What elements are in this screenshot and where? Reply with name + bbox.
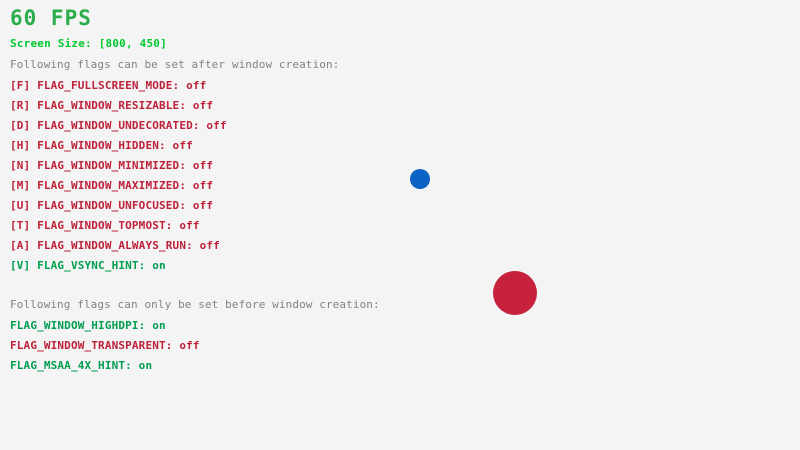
blue-ball (410, 169, 430, 189)
fps-counter: 60 FPS (10, 8, 92, 29)
screen-size-label: Screen Size: [800, 450] (10, 38, 167, 49)
flag-row-window-always-run[interactable]: [A] FLAG_WINDOW_ALWAYS_RUN: off (10, 240, 220, 251)
flag-row-window-minimized[interactable]: [N] FLAG_WINDOW_MINIMIZED: off (10, 160, 213, 171)
section-header-after-creation: Following flags can be set after window … (10, 59, 339, 70)
flag-row-window-topmost[interactable]: [T] FLAG_WINDOW_TOPMOST: off (10, 220, 200, 231)
raylib-window: 60 FPS Screen Size: [800, 450] Following… (0, 0, 800, 450)
flag-row-window-maximized[interactable]: [M] FLAG_WINDOW_MAXIMIZED: off (10, 180, 213, 191)
flag-row-vsync-hint[interactable]: [V] FLAG_VSYNC_HINT: on (10, 260, 166, 271)
flag-row-window-transparent: FLAG_WINDOW_TRANSPARENT: off (10, 340, 200, 351)
flag-row-window-highdpi: FLAG_WINDOW_HIGHDPI: on (10, 320, 166, 331)
flag-row-window-resizable[interactable]: [R] FLAG_WINDOW_RESIZABLE: off (10, 100, 213, 111)
flag-row-window-hidden[interactable]: [H] FLAG_WINDOW_HIDDEN: off (10, 140, 193, 151)
flag-row-window-unfocused[interactable]: [U] FLAG_WINDOW_UNFOCUSED: off (10, 200, 213, 211)
flag-row-fullscreen-mode[interactable]: [F] FLAG_FULLSCREEN_MODE: off (10, 80, 206, 91)
red-ball (493, 271, 537, 315)
flag-row-msaa-4x-hint: FLAG_MSAA_4X_HINT: on (10, 360, 152, 371)
flag-row-window-undecorated[interactable]: [D] FLAG_WINDOW_UNDECORATED: off (10, 120, 227, 131)
section-header-before-creation: Following flags can only be set before w… (10, 299, 380, 310)
